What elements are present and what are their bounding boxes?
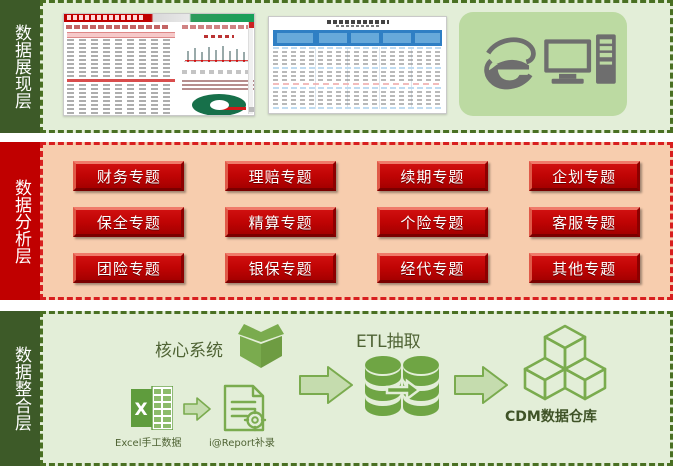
dashboard-line-chart [182, 34, 252, 68]
layer-integration: 数据整合层 核心系统 ETL抽取 CDM数据仓库 Excel手工数据 i@Rep… [0, 311, 673, 466]
topic-button-agency[interactable]: 经代专题 [377, 253, 488, 283]
layer-integration-body: 核心系统 ETL抽取 CDM数据仓库 Excel手工数据 i@Report补录 [40, 311, 673, 466]
etl-label: ETL抽取 [356, 327, 421, 352]
layer-presentation: 数据展现层 [0, 0, 673, 133]
topic-button-actuarial[interactable]: 精算专题 [225, 207, 336, 237]
dashboard-donut-chart [192, 94, 246, 116]
dashboard-subtitle-left [66, 25, 170, 29]
dashboard-table-rows [67, 39, 175, 113]
open-box-icon [230, 322, 292, 370]
topic-button-claims[interactable]: 理赔专题 [225, 161, 336, 191]
topic-button-policy-service[interactable]: 保全专题 [73, 207, 184, 237]
topic-button-individual-insurance[interactable]: 个险专题 [377, 207, 488, 237]
dashboard-table-header [67, 32, 175, 38]
dashboard-scrollbar[interactable] [248, 22, 253, 114]
layer-analysis: 数据分析层 财务专题 理赔专题 续期专题 企划专题 保全专题 精算专题 个险专题… [0, 142, 673, 300]
desktop-computer-icon [543, 34, 617, 94]
layer-analysis-label: 数据分析层 [0, 142, 41, 300]
layer-integration-label: 数据整合层 [0, 311, 41, 466]
spreadsheet-subtitle [336, 25, 380, 27]
ireport-source-label: i@Report补录 [209, 434, 275, 449]
layer-presentation-body [40, 0, 673, 133]
excel-source-label: Excel手工数据 [115, 434, 182, 449]
topic-button-finance[interactable]: 财务专题 [73, 161, 184, 191]
topic-button-other[interactable]: 其他专题 [529, 253, 640, 283]
topic-button-bancassurance[interactable]: 银保专题 [225, 253, 336, 283]
client-access-card [459, 12, 627, 116]
data-cubes-icon [523, 324, 607, 402]
spreadsheet-data-grid [273, 47, 442, 109]
core-system-label: 核心系统 [155, 336, 223, 361]
spreadsheet-title [327, 20, 389, 24]
dashboard-chart-xlabels [182, 70, 254, 74]
internet-explorer-icon [475, 30, 545, 98]
arrow-right-small-icon [183, 396, 211, 422]
arrow-right-icon [298, 364, 354, 406]
topic-button-renewal[interactable]: 续期专题 [377, 161, 488, 191]
topic-button-grid: 财务专题 理赔专题 续期专题 企划专题 保全专题 精算专题 个险专题 客服专题 … [43, 145, 670, 297]
spreadsheet-thumbnail[interactable] [268, 16, 447, 114]
report-dashboard-thumbnail[interactable] [63, 13, 255, 116]
topic-button-planning[interactable]: 企划专题 [529, 161, 640, 191]
layer-presentation-label: 数据展现层 [0, 0, 41, 133]
excel-file-icon: X [131, 386, 173, 430]
dashboard-titlebar [64, 14, 254, 22]
document-settings-icon [223, 384, 267, 432]
dashboard-subtitle-right [182, 25, 255, 29]
database-transfer-icon [363, 354, 441, 422]
dashboard-title-text [67, 15, 143, 20]
scrollbar-thumb[interactable] [249, 22, 254, 28]
donut-highlight-segment [219, 107, 246, 110]
scrollbar-button[interactable] [249, 107, 254, 112]
topic-button-group-insurance[interactable]: 团险专题 [73, 253, 184, 283]
warehouse-label: CDM数据仓库 [505, 406, 597, 426]
layer-analysis-body: 财务专题 理赔专题 续期专题 企划专题 保全专题 精算专题 个险专题 客服专题 … [40, 142, 673, 300]
spreadsheet-header-row [273, 30, 442, 46]
dashboard-note-text [182, 78, 254, 90]
excel-letter: X [134, 400, 147, 420]
data-flow-diagram: 核心系统 ETL抽取 CDM数据仓库 Excel手工数据 i@Report补录 [43, 314, 670, 463]
chart-legend [204, 35, 234, 38]
arrow-right-icon [453, 364, 509, 406]
architecture-diagram: 数据展现层 [0, 0, 673, 466]
topic-button-customer-service[interactable]: 客服专题 [529, 207, 640, 237]
